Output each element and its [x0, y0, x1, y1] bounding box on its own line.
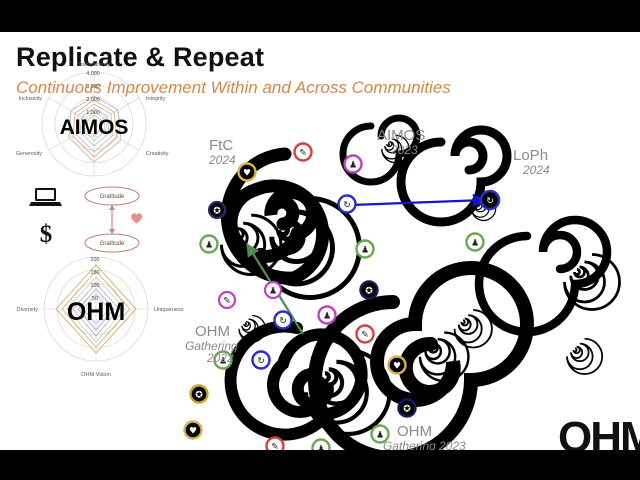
- bead-document-icon[interactable]: ✎: [267, 438, 284, 451]
- radar-chart-aimos: Transparency Integrity Creativity Genero…: [2, 52, 182, 182]
- bead-recycle-icon[interactable]: ↻: [481, 191, 499, 209]
- radar-axis-label: Creativity: [146, 151, 169, 157]
- svg-text:↻: ↻: [257, 357, 265, 367]
- svg-text:♟: ♟: [471, 239, 479, 249]
- bead-heart-icon[interactable]: ♥: [389, 357, 406, 374]
- blue-arrow: [351, 200, 485, 205]
- radar-tick-label: 200: [91, 257, 100, 263]
- svg-text:♟: ♟: [269, 287, 277, 297]
- svg-text:✎: ✎: [271, 443, 279, 451]
- svg-text:✎: ✎: [361, 331, 369, 341]
- bead-document-icon[interactable]: ✎: [219, 292, 235, 308]
- spiral-label-name: OHM: [397, 424, 466, 440]
- svg-text:♟: ♟: [205, 241, 213, 251]
- dollar-icon: $: [40, 221, 53, 248]
- spiral-label-name: AIMOS: [377, 128, 425, 144]
- radar-axis-label: Inclusivity: [19, 96, 43, 102]
- gratitude-node-top-label: Gratitude: [100, 194, 125, 200]
- radar-tick-label: 100: [91, 283, 100, 289]
- bead-recycle-icon[interactable]: ↻: [275, 312, 292, 329]
- letterbox-bottom: [0, 450, 640, 480]
- spiral-label-ohm-2022: OHM Gathering 2022: [185, 324, 238, 365]
- letterbox-top: [0, 0, 640, 32]
- bead-document-icon[interactable]: ✎: [295, 144, 312, 161]
- radar-tick-label: 3,000: [86, 84, 100, 90]
- spiral-network-diagram: ♥ ✎ ♟ ↻ ♟ ✪ ✪: [175, 112, 640, 450]
- spiral-label-name: FtC: [209, 138, 236, 154]
- radar-axis-label: Transparency: [78, 62, 111, 68]
- bead-recycle-icon[interactable]: ↻: [253, 352, 270, 369]
- svg-text:♟: ♟: [361, 246, 369, 256]
- radar-tick-label: 150: [91, 270, 100, 276]
- bead-award-icon[interactable]: ✪: [191, 386, 208, 403]
- radar-axis-label: Generosity: [16, 151, 42, 157]
- radar-axis-label: Integrity: [146, 96, 165, 102]
- ohm-logo-text: OHM: [558, 418, 640, 450]
- spiral-label-loph: LoPh 2024: [513, 148, 550, 176]
- ohm-logo: OHM: [558, 418, 640, 450]
- svg-text:♥: ♥: [393, 362, 401, 372]
- spiral-label-name: OHM: [195, 324, 238, 340]
- spiral-label-ftc: FtC 2024: [209, 138, 236, 166]
- svg-text:✪: ✪: [213, 207, 221, 217]
- bead-person-icon[interactable]: ♟: [467, 234, 484, 251]
- spiral-label-name: LoPh: [513, 148, 550, 164]
- slide-canvas: Replicate & Repeat Continuous Improvemen…: [0, 32, 640, 450]
- bead-heart-icon[interactable]: ♥: [239, 164, 256, 181]
- spiral-label-year2: 2022: [207, 352, 238, 365]
- bead-document-icon[interactable]: ✎: [357, 326, 374, 343]
- svg-text:✎: ✎: [299, 149, 307, 159]
- bead-person-icon[interactable]: ♟: [265, 282, 281, 298]
- spiral-label-year: 2023: [391, 144, 425, 157]
- svg-text:↻: ↻: [486, 197, 494, 207]
- radar-axis-label: OHM Vision: [81, 372, 111, 377]
- bead-recycle-icon[interactable]: ↻: [339, 196, 356, 213]
- bead-person-icon[interactable]: ♟: [345, 156, 362, 173]
- svg-text:✎: ✎: [223, 297, 231, 307]
- radar-center-label: OHM: [67, 298, 125, 326]
- svg-text:↻: ↻: [343, 201, 351, 211]
- heart-icon: [131, 213, 142, 223]
- radar-tick-label: 4,000: [86, 71, 100, 77]
- svg-text:✪: ✪: [195, 391, 203, 401]
- bead-person-icon[interactable]: ♟: [313, 440, 330, 451]
- laptop-icon: [29, 188, 62, 206]
- svg-text:♟: ♟: [323, 312, 331, 322]
- svg-text:♟: ♟: [349, 161, 357, 171]
- svg-text:♟: ♟: [317, 445, 325, 451]
- svg-text:♥: ♥: [243, 169, 251, 179]
- bead-heart-icon[interactable]: ♥: [185, 422, 202, 439]
- spiral-label-year: 2024: [523, 164, 550, 177]
- bead-person-icon[interactable]: ♟: [201, 236, 218, 253]
- spiral-label-year: Gathering 2023: [383, 440, 466, 450]
- radar-tick-label: 2,000: [86, 97, 100, 103]
- svg-text:✪: ✪: [365, 287, 373, 297]
- bead-award-icon[interactable]: ✪: [399, 400, 416, 417]
- bead-award-icon[interactable]: ✪: [209, 202, 225, 218]
- radar-center-label: AIMOS: [60, 116, 129, 139]
- bead-person-icon[interactable]: ♟: [357, 241, 374, 258]
- bead-person-icon[interactable]: ♟: [319, 307, 336, 324]
- spiral-label-ohm-2023: OHM Gathering 2023: [383, 424, 466, 450]
- svg-text:↻: ↻: [279, 317, 287, 327]
- radar-chart-ohm: Uniqueness OHM Vision Diversity 200 150 …: [0, 247, 190, 377]
- svg-text:✪: ✪: [403, 405, 411, 415]
- spiral-label-aimos: AIMOS 2023: [377, 128, 425, 156]
- bead-award-icon[interactable]: ✪: [361, 282, 378, 299]
- spiral-label-year: 2024: [209, 154, 236, 167]
- svg-text:♥: ♥: [189, 427, 197, 437]
- radar-axis-label: Diversity: [17, 307, 39, 313]
